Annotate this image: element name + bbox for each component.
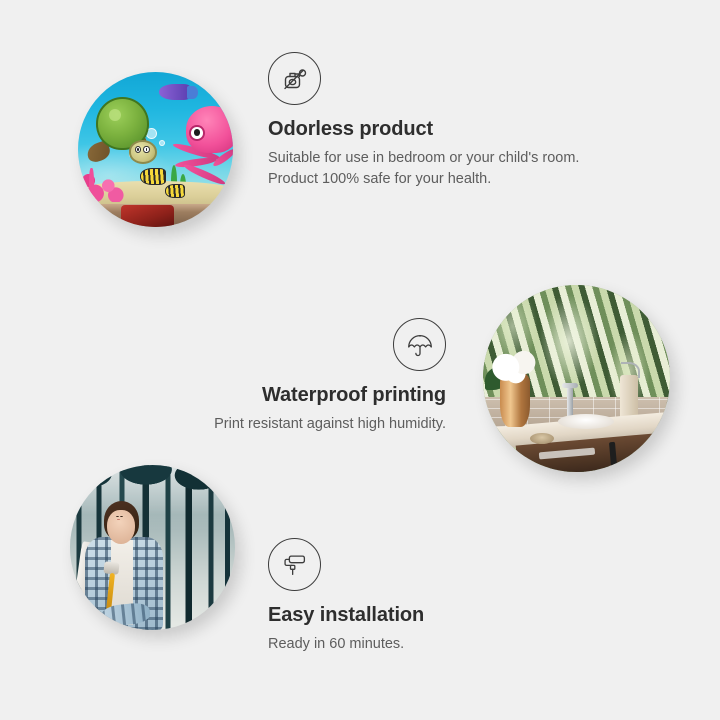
feature-waterproof: Waterproof printing Print resistant agai…: [150, 318, 446, 435]
paint-roller-icon: [268, 538, 321, 591]
ocean-scene: [78, 72, 233, 227]
turtle-eye: [135, 146, 141, 153]
eye: [116, 516, 120, 517]
feature-title: Easy installation: [268, 603, 568, 628]
icon-wrap: [268, 538, 568, 591]
feature-description: Ready in 60 minutes.: [268, 634, 568, 655]
woman-figure: [83, 501, 175, 630]
no-odor-spray-bottle-icon: [268, 52, 321, 105]
bathroom-scene: [483, 285, 670, 472]
feature-odorless: Odorless product Suitable for use in bed…: [268, 52, 608, 189]
soap-dish: [530, 433, 554, 444]
pink-coral-icon: [81, 159, 128, 202]
forest-scene: [70, 465, 235, 630]
feature-title: Odorless product: [268, 117, 608, 142]
icon-wrap: [150, 318, 446, 371]
underwater-cartoon-mural-photo[interactable]: [78, 72, 233, 227]
striped-fish-icon: [165, 184, 185, 198]
icon-wrap: [268, 52, 608, 105]
turtle-eye: [143, 146, 149, 153]
feature-installation: Easy installation Ready in 60 minutes.: [268, 538, 568, 655]
blue-fish-icon: [159, 84, 190, 100]
tropical-bathroom-photo[interactable]: [483, 285, 670, 472]
octopus-eye: [189, 125, 205, 141]
striped-fish-icon: [140, 168, 166, 185]
feature-description: Suitable for use in bedroom or your chil…: [268, 148, 608, 189]
room-floor-and-furniture: [78, 204, 233, 227]
octopus-head: [186, 106, 233, 153]
turtle-head: [129, 140, 158, 163]
white-roses: [489, 347, 545, 384]
feature-description: Print resistant against high humidity.: [150, 414, 446, 435]
umbrella-icon: [393, 318, 446, 371]
sink-basin: [558, 414, 614, 429]
octopus-icon: [171, 106, 233, 187]
sea-turtle-icon: [87, 97, 158, 165]
feature-title: Waterproof printing: [150, 383, 446, 408]
face: [107, 510, 135, 543]
woman-with-paint-roller-photo[interactable]: [70, 465, 235, 630]
feature-highlights-page: Odorless product Suitable for use in bed…: [0, 0, 720, 720]
eye: [120, 516, 124, 517]
smile: [117, 519, 120, 520]
